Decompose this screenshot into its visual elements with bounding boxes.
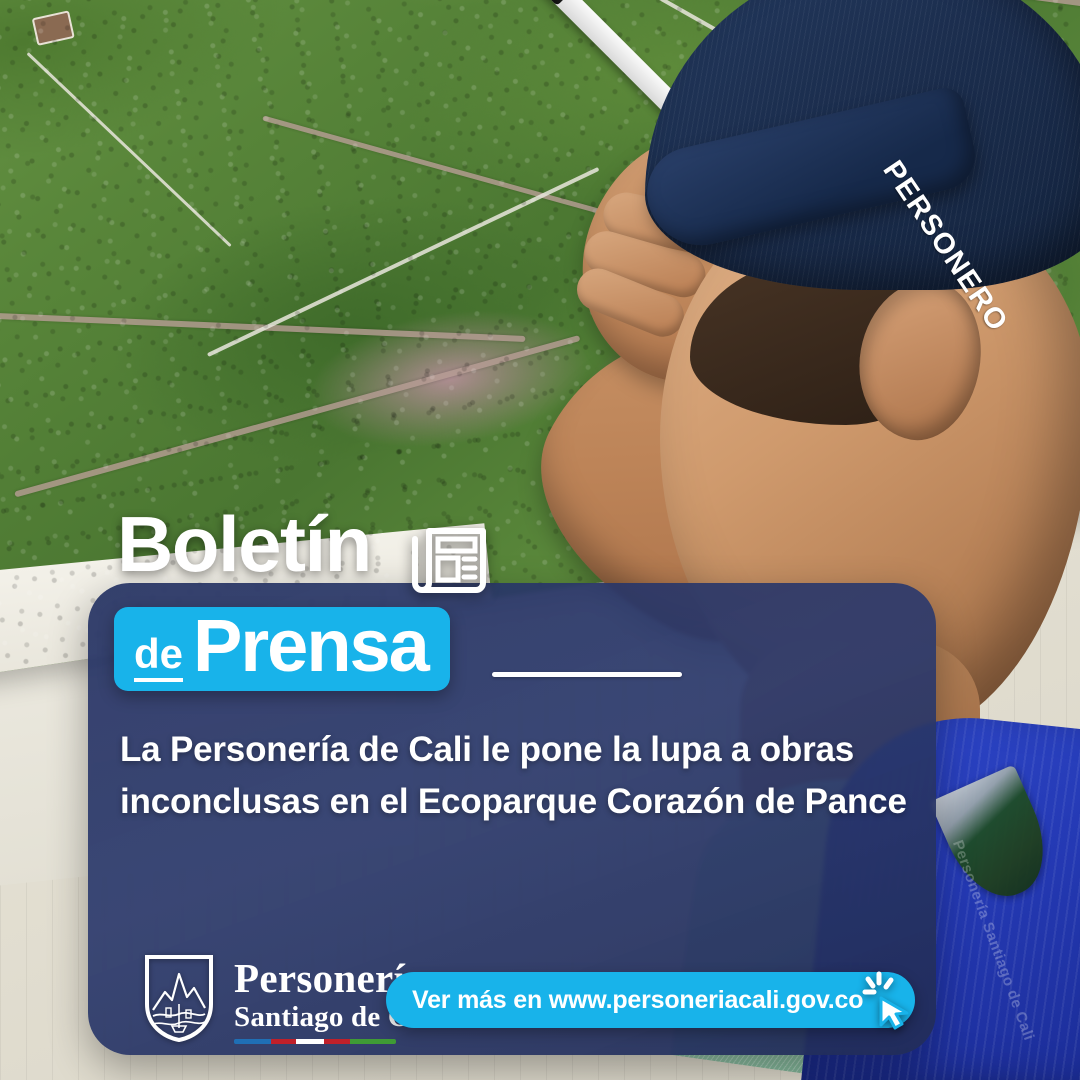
bar-segment-red-2	[324, 1039, 349, 1044]
newspaper-icon	[405, 517, 491, 602]
press-bulletin-poster: PERSONERO Personería Santiago de Cali Bo…	[0, 0, 1080, 1080]
prensa-badge: de Prensa	[114, 607, 450, 691]
badge-prensa-label: Prensa	[193, 609, 428, 683]
title-lockup: Boletín de Prensa	[0, 0, 1080, 1080]
bar-segment-green	[350, 1039, 396, 1044]
brand-color-bar	[234, 1039, 396, 1044]
cursor-click-icon	[859, 968, 921, 1035]
bar-segment-white	[296, 1039, 324, 1044]
bar-segment-blue	[234, 1039, 271, 1044]
bulletin-title: Boletín	[117, 505, 371, 583]
shield-crest-icon	[142, 952, 216, 1049]
bar-segment-red	[271, 1039, 296, 1044]
website-cta-label: Ver más en www.personeriacali.gov.co	[412, 986, 863, 1015]
website-cta-button[interactable]: Ver más en www.personeriacali.gov.co	[386, 972, 915, 1028]
badge-de-label: de	[134, 633, 183, 682]
headline-text: La Personería de Cali le pone la lupa a …	[120, 724, 920, 828]
title-divider-rule	[492, 672, 682, 677]
